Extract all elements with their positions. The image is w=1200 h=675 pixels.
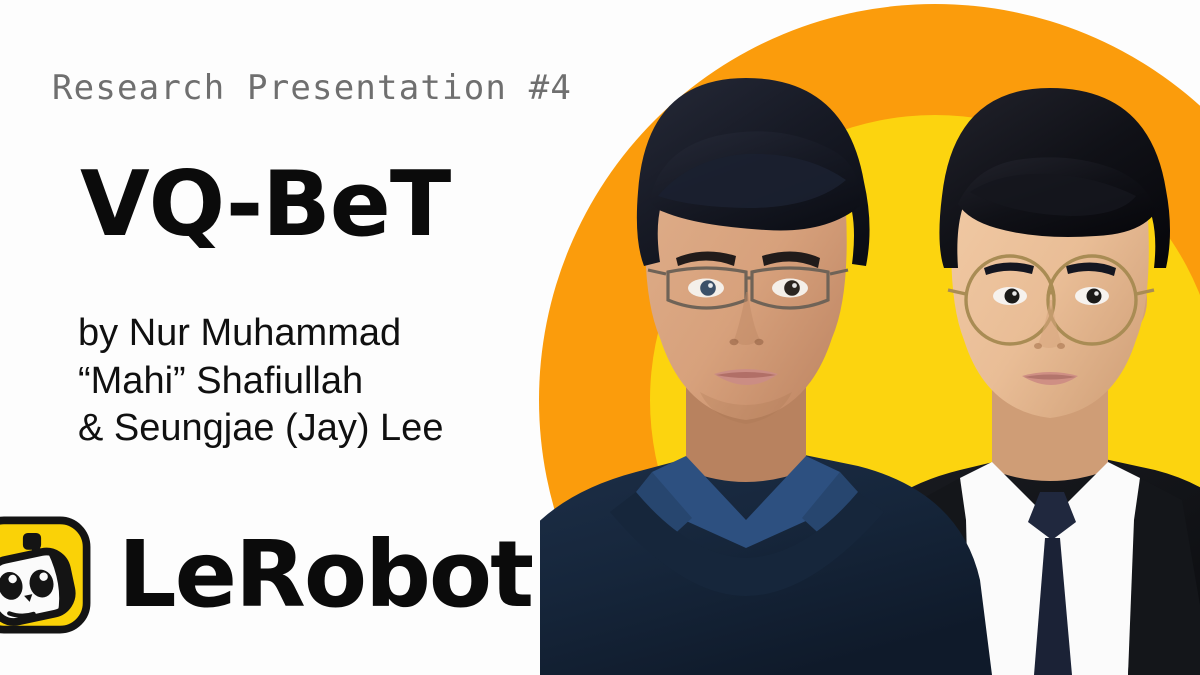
- byline-line-2: “Mahi” Shafiullah: [78, 358, 443, 406]
- byline: by Nur Muhammad “Mahi” Shafiullah & Seun…: [78, 310, 443, 453]
- presentation-slide: Research Presentation #4 VQ-BeT by Nur M…: [0, 0, 1200, 675]
- speakers-portrait: [540, 0, 1200, 675]
- robot-antenna-tip: [23, 533, 41, 550]
- portrait-illustration: [540, 0, 1200, 675]
- byline-line-1: by Nur Muhammad: [78, 310, 443, 358]
- lerobot-robot-head-icon: [0, 505, 102, 645]
- subject-mahi: [540, 78, 992, 675]
- lerobot-wordmark: LeRobot: [118, 529, 532, 621]
- lerobot-brand-lockup: LeRobot: [0, 505, 532, 645]
- eyebrow-label: Research Presentation #4: [52, 68, 572, 108]
- page-title: VQ-BeT: [80, 160, 450, 250]
- byline-line-3: & Seungjae (Jay) Lee: [78, 405, 443, 453]
